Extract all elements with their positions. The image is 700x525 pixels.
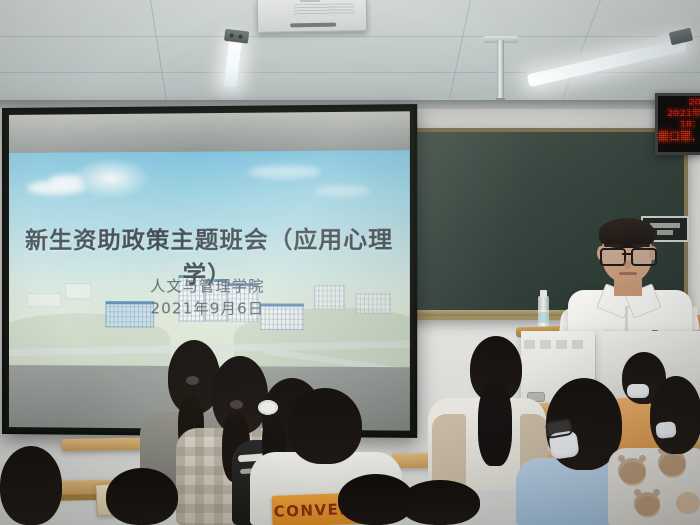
cabinet-slots bbox=[524, 340, 588, 349]
water-bottle bbox=[538, 296, 549, 330]
ceiling-light-right bbox=[514, 28, 694, 72]
slide-subtitle-org: 人文与管理学院 bbox=[9, 275, 410, 297]
slide-content: 新生资助政策主题班会（应用心理学） 人文与管理学院 2021年9月6日 bbox=[9, 150, 410, 367]
led-sign: 20 2021年 18： 戴口罩、 bbox=[655, 93, 700, 155]
led-line-2: 2021年 bbox=[658, 109, 700, 120]
projector-icon bbox=[257, 0, 368, 33]
classroom-photo: 20 2021年 18： 戴口罩、 bbox=[0, 0, 700, 525]
projector-mount bbox=[300, 0, 320, 2]
led-line-4: 戴口罩、 bbox=[658, 131, 700, 142]
led-line-1: 20 bbox=[658, 98, 700, 109]
slide-subtitle-date: 2021年9月6日 bbox=[9, 297, 410, 319]
screen-top-band bbox=[9, 111, 410, 153]
